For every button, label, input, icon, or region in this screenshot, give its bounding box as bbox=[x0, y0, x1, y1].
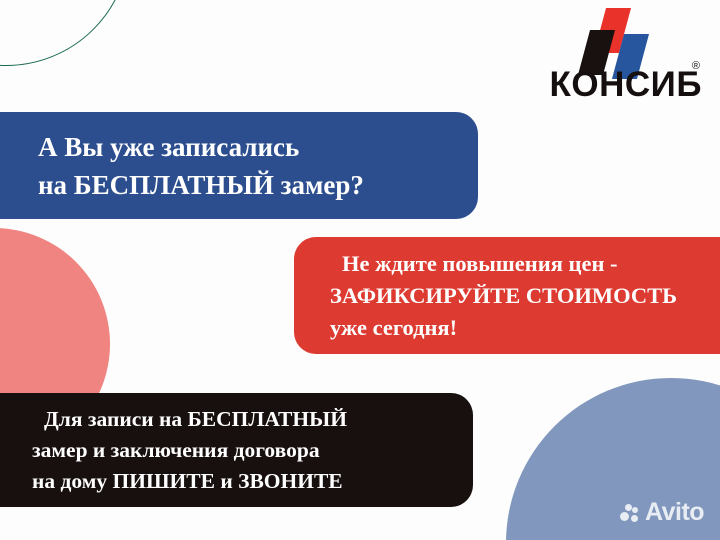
avito-watermark-label: Avito bbox=[645, 500, 704, 525]
headline-banner-blue: А Вы уже записались на БЕСПЛАТНЫЙ замер? bbox=[0, 112, 478, 219]
avito-watermark: Avito bbox=[620, 500, 704, 525]
offer-banner-red: Не ждите повышения цен - ЗАФИКСИРУЙТЕ СТ… bbox=[294, 237, 720, 354]
banner-black-line-3: на дому ПИШИТЕ и ЗВОНИТЕ bbox=[32, 466, 455, 497]
contact-banner-black: Для записи на БЕСПЛАТНЫЙ замер и заключе… bbox=[0, 393, 473, 507]
green-arc-decoration bbox=[0, 0, 130, 66]
banner-red-line-1: Не ждите повышения цен - bbox=[330, 248, 720, 280]
banner-blue-line-2: на БЕСПЛАТНЫЙ замер? bbox=[38, 166, 448, 204]
brand-logo: КОНСИБ ® bbox=[510, 8, 702, 106]
banner-black-line-1: Для записи на БЕСПЛАТНЫЙ bbox=[32, 404, 455, 435]
banner-black-line-2: замер и заключения договора bbox=[32, 435, 455, 466]
banner-red-line-3: уже сегодня! bbox=[330, 312, 720, 344]
logo-wordmark: КОНСИБ bbox=[510, 66, 702, 104]
banner-red-line-2: ЗАФИКСИРУЙТЕ СТОИМОСТЬ bbox=[330, 280, 720, 312]
banner-blue-line-1: А Вы уже записались bbox=[38, 128, 448, 166]
poster-canvas: КОНСИБ ® А Вы уже записались на БЕСПЛАТН… bbox=[0, 0, 720, 540]
registered-trademark-icon: ® bbox=[692, 60, 700, 72]
avito-dots-icon bbox=[620, 503, 640, 523]
